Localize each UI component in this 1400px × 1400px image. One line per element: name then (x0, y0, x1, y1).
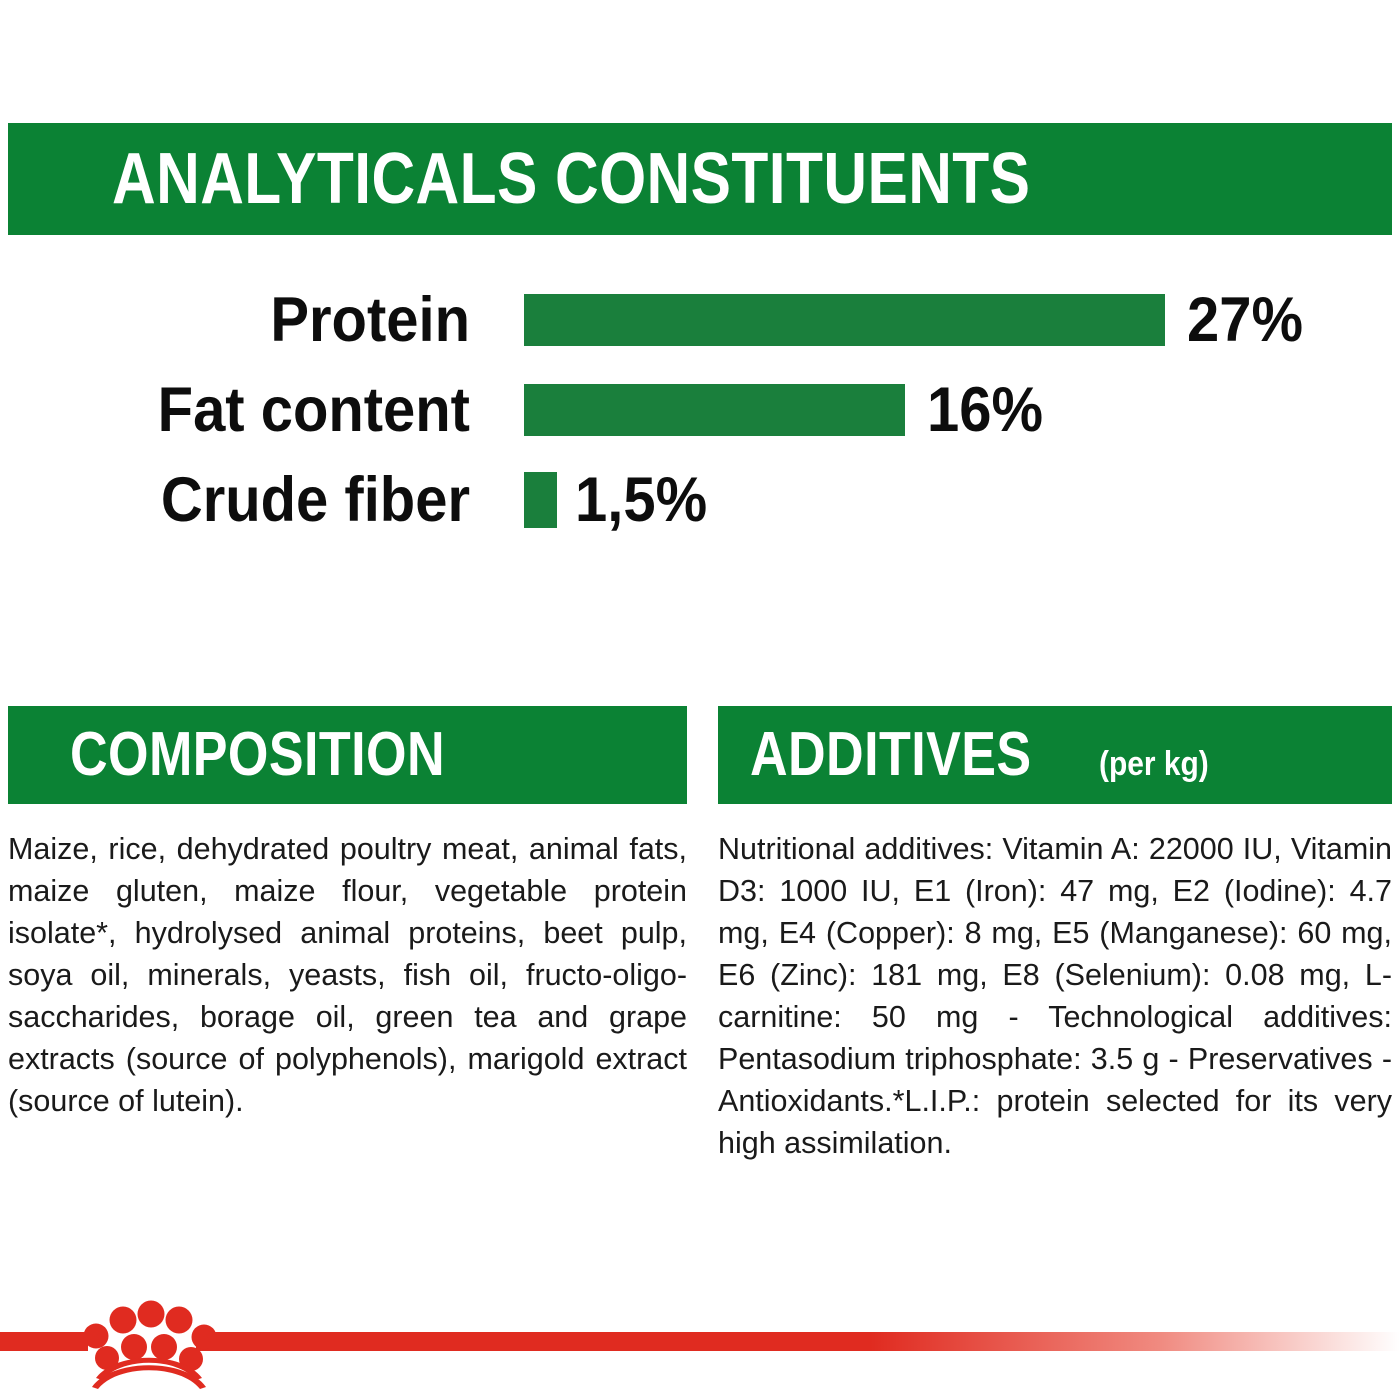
composition-header-band: COMPOSITION (8, 706, 687, 804)
bar-fill-crude-fiber (524, 472, 557, 528)
bar-track-protein: 27% (524, 280, 1313, 360)
bar-fill-fat-content (524, 384, 905, 436)
bar-value-crude-fiber: 1,5% (575, 469, 707, 532)
bar-label-crude-fiber: Crude fiber (38, 469, 470, 532)
bar-row-protein: Protein 27% (0, 280, 1400, 360)
additives-title: ADDITIVES (750, 724, 1032, 786)
additives-subtitle-per-kg: (per kg) (1099, 747, 1209, 781)
analyticals-header-band: ANALYTICALS CONSTITUENTS (8, 123, 1392, 235)
bar-label-protein: Protein (38, 289, 470, 352)
nutrition-panel: ANALYTICALS CONSTITUENTS Protein 27% Fat… (0, 0, 1400, 1400)
footer-rule-right (196, 1332, 1400, 1351)
analyticals-bar-chart: Protein 27% Fat content 16% Crude fiber … (0, 270, 1400, 540)
bar-track-fat-content: 16% (524, 370, 1053, 450)
additives-body-text: Nutritional additives: Vitamin A: 22000 … (718, 828, 1392, 1164)
analyticals-title: ANALYTICALS CONSTITUENTS (112, 143, 1030, 215)
bar-track-crude-fiber: 1,5% (524, 460, 719, 540)
additives-title-group: ADDITIVES (per kg) (750, 724, 1224, 786)
bar-value-fat-content: 16% (927, 379, 1043, 442)
bar-row-fat-content: Fat content 16% (0, 370, 1400, 450)
bar-value-protein: 27% (1187, 289, 1303, 352)
bar-row-crude-fiber: Crude fiber 1,5% (0, 460, 1400, 540)
bar-fill-protein (524, 294, 1165, 346)
royal-canin-crown-icon (74, 1288, 224, 1392)
composition-body-text: Maize, rice, dehydrated poultry meat, an… (8, 828, 687, 1122)
composition-title: COMPOSITION (70, 724, 445, 786)
additives-header-band: ADDITIVES (per kg) (718, 706, 1392, 804)
bar-label-fat-content: Fat content (38, 379, 470, 442)
